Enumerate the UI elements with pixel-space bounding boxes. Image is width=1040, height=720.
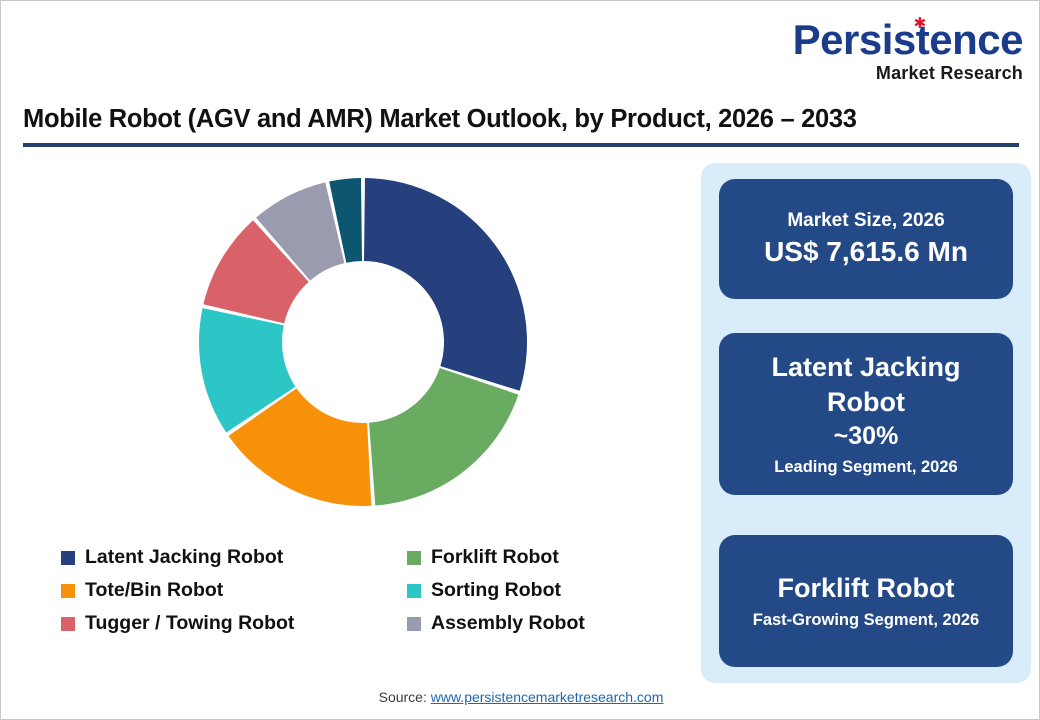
legend-label-latent-jacking-robot: Latent Jacking Robot — [85, 546, 283, 569]
title-divider — [23, 143, 1019, 147]
legend-item-sorting-robot[interactable]: Sorting Robot — [407, 579, 681, 602]
stats-panel: Market Size, 2026 US$ 7,615.6 Mn Latent … — [701, 163, 1031, 683]
brand-tagline: Market Research — [793, 64, 1023, 82]
donut-slice-group — [199, 178, 527, 506]
fast-growing-segment-name: Forklift Robot — [778, 571, 955, 606]
leading-segment-name-line1: Latent Jacking — [771, 350, 960, 385]
legend-item-tote-bin-robot[interactable]: Tote/Bin Robot — [61, 579, 407, 602]
fast-growing-segment-note: Fast-Growing Segment, 2026 — [753, 610, 979, 631]
leading-segment-name-line2: Robot — [827, 385, 905, 420]
legend-item-tugger-towing-robot[interactable]: Tugger / Towing Robot — [61, 612, 407, 635]
star-icon: ✱ — [914, 18, 925, 29]
legend-label-sorting-robot: Sorting Robot — [431, 579, 561, 602]
donut-chart — [17, 161, 683, 541]
legend-swatch-assembly-robot — [407, 617, 421, 631]
footer: Source: www.persistencemarketresearch.co… — [1, 689, 1040, 705]
chart-legend: Latent Jacking Robot Forklift Robot Tote… — [61, 541, 681, 640]
infographic-root: Persistence ✱ Market Research Mobile Rob… — [0, 0, 1040, 720]
market-size-value: US$ 7,615.6 Mn — [764, 234, 968, 269]
leading-segment-note: Leading Segment, 2026 — [774, 457, 957, 478]
leading-segment-share: ~30% — [834, 420, 899, 453]
page-title: Mobile Robot (AGV and AMR) Market Outloo… — [23, 105, 1019, 134]
legend-label-tugger-towing-robot: Tugger / Towing Robot — [85, 612, 294, 635]
title-block: Mobile Robot (AGV and AMR) Market Outloo… — [23, 105, 1019, 147]
legend-label-forklift-robot: Forklift Robot — [431, 546, 559, 569]
source-label: Source: — [379, 689, 431, 705]
legend-label-assembly-robot: Assembly Robot — [431, 612, 585, 635]
legend-item-latent-jacking-robot[interactable]: Latent Jacking Robot — [61, 546, 407, 569]
legend-swatch-forklift-robot — [407, 551, 421, 565]
stat-card-market-size[interactable]: Market Size, 2026 US$ 7,615.6 Mn — [719, 179, 1013, 299]
donut-chart-svg — [17, 161, 683, 541]
donut-slice-latent-jacking-robot[interactable] — [364, 178, 527, 391]
brand-logo: Persistence ✱ Market Research — [793, 19, 1023, 82]
legend-item-assembly-robot[interactable]: Assembly Robot — [407, 612, 681, 635]
market-size-kicker: Market Size, 2026 — [787, 209, 944, 233]
legend-swatch-tote-bin-robot — [61, 584, 75, 598]
legend-label-tote-bin-robot: Tote/Bin Robot — [85, 579, 223, 602]
legend-item-forklift-robot[interactable]: Forklift Robot — [407, 546, 681, 569]
source-link[interactable]: www.persistencemarketresearch.com — [431, 689, 664, 705]
legend-swatch-sorting-robot — [407, 584, 421, 598]
legend-swatch-tugger-towing-robot — [61, 617, 75, 631]
legend-swatch-latent-jacking-robot — [61, 551, 75, 565]
brand-name: Persistence — [793, 19, 1023, 61]
donut-slice-forklift-robot[interactable] — [369, 368, 518, 506]
stat-card-fast-growing-segment[interactable]: Forklift Robot Fast-Growing Segment, 202… — [719, 535, 1013, 667]
stat-card-leading-segment[interactable]: Latent Jacking Robot ~30% Leading Segmen… — [719, 333, 1013, 495]
